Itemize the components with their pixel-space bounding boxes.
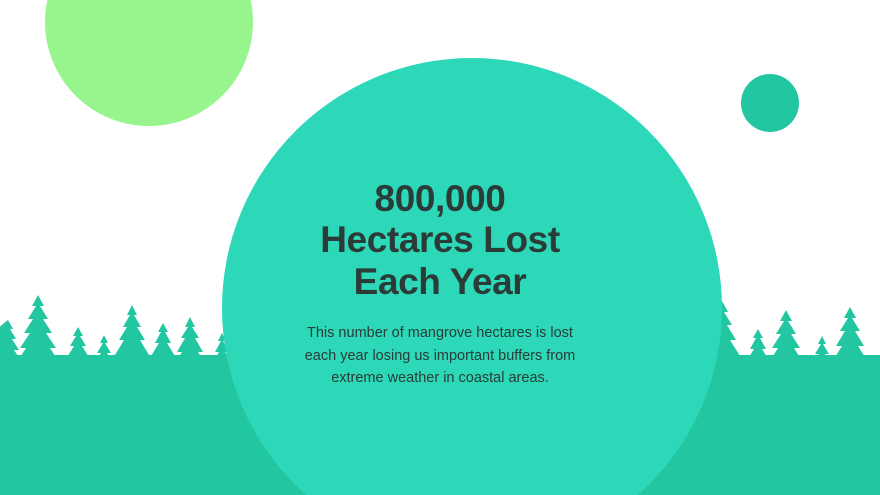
body-line-2: each year losing us important buffers fr… [275, 345, 605, 367]
copy-block: 800,000 Hectares Lost Each Year This num… [0, 178, 880, 390]
body-line-3: extreme weather in coastal areas. [275, 367, 605, 389]
headline-line-1: 800,000 [0, 178, 880, 219]
small-teal-circle [741, 74, 799, 132]
slide-canvas: 800,000 Hectares Lost Each Year This num… [0, 0, 880, 495]
page-title: 800,000 Hectares Lost Each Year [0, 178, 880, 302]
headline-line-3: Each Year [0, 261, 880, 302]
light-green-circle [45, 0, 253, 126]
body-line-1: This number of mangrove hectares is lost [275, 322, 605, 344]
headline-line-2: Hectares Lost [0, 219, 880, 260]
body-description: This number of mangrove hectares is lost… [275, 322, 605, 389]
